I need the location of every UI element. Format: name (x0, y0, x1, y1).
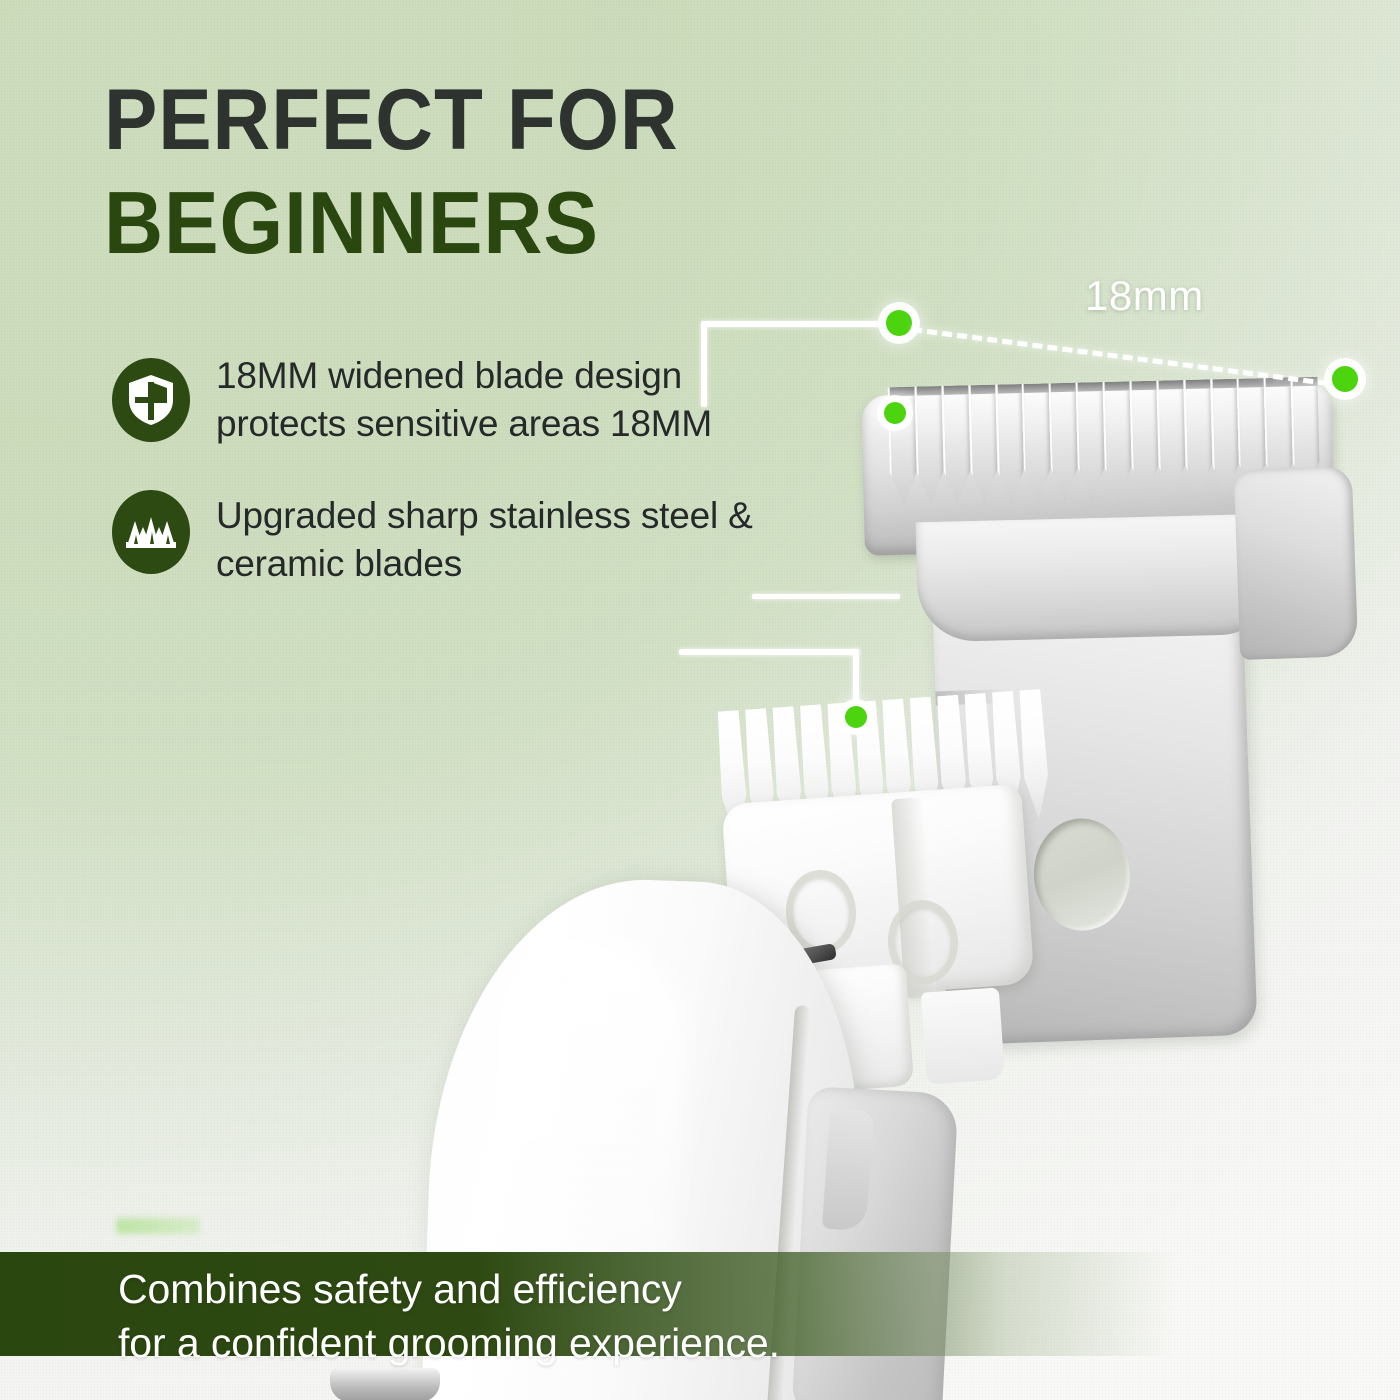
callout-dot-ceramic-blade (845, 706, 867, 728)
steel-tooth (1103, 381, 1133, 500)
feature-text-widened-blade: 18MM widened blade design protects sensi… (216, 352, 772, 448)
dimension-label: 18mm (1085, 272, 1204, 320)
leader-line-1-horizontal (701, 321, 897, 327)
dimension-dot-right (1332, 366, 1358, 392)
steel-tooth (1022, 383, 1052, 502)
leader-line-2-stub (752, 594, 900, 599)
shield-icon (128, 374, 174, 426)
headline-line-1: PERFECT FOR (104, 78, 867, 162)
steel-blade-neck (916, 514, 1279, 643)
feature-item-widened-blade: 18MM widened blade design protects sensi… (112, 352, 772, 448)
blade-teeth-icon (125, 515, 177, 549)
ceramic-tooth (1018, 689, 1052, 820)
headline-line-2: BEGINNERS (104, 180, 867, 266)
trimmer-handle-ring (330, 1368, 440, 1400)
stainless-steel-blade (845, 368, 1355, 668)
callout-dot-blade-corner (886, 310, 912, 336)
shield-icon-badge (112, 358, 190, 442)
steel-tooth (1076, 382, 1106, 501)
steel-tooth (1183, 379, 1213, 498)
feature-item-sharp-blades: Upgraded sharp stainless steel & ceramic… (112, 484, 772, 588)
steel-tooth (1049, 383, 1079, 502)
steel-tooth (968, 385, 998, 504)
steel-tooth (1210, 379, 1240, 498)
callout-dot-steel-blade (884, 402, 906, 424)
watermark-blur (116, 1218, 200, 1234)
blade-teeth-icon-badge (112, 490, 190, 574)
steel-tooth (1156, 380, 1186, 499)
caption-line-2: for a confident grooming experience. (118, 1316, 1018, 1370)
headline-block: PERFECT FOR BEGINNERS (104, 78, 924, 267)
ceramic-blade-foot (921, 987, 1005, 1084)
caption-text: Combines safety and efficiency for a con… (118, 1262, 1018, 1370)
steel-tooth (995, 384, 1025, 503)
feature-list: 18MM widened blade design protects sensi… (112, 352, 772, 624)
caption-line-1: Combines safety and efficiency (118, 1262, 1018, 1316)
steel-tooth (914, 386, 944, 505)
steel-tooth (1129, 381, 1159, 500)
leader-line-2-horizontal (679, 649, 859, 655)
product-feature-graphic: 18mm PERFECT FOR BEGINNERS (0, 0, 1400, 1400)
steel-tooth (941, 385, 971, 504)
feature-text-sharp-blades: Upgraded sharp stainless steel & ceramic… (216, 492, 772, 588)
steel-blade-right-wing (1234, 466, 1359, 660)
